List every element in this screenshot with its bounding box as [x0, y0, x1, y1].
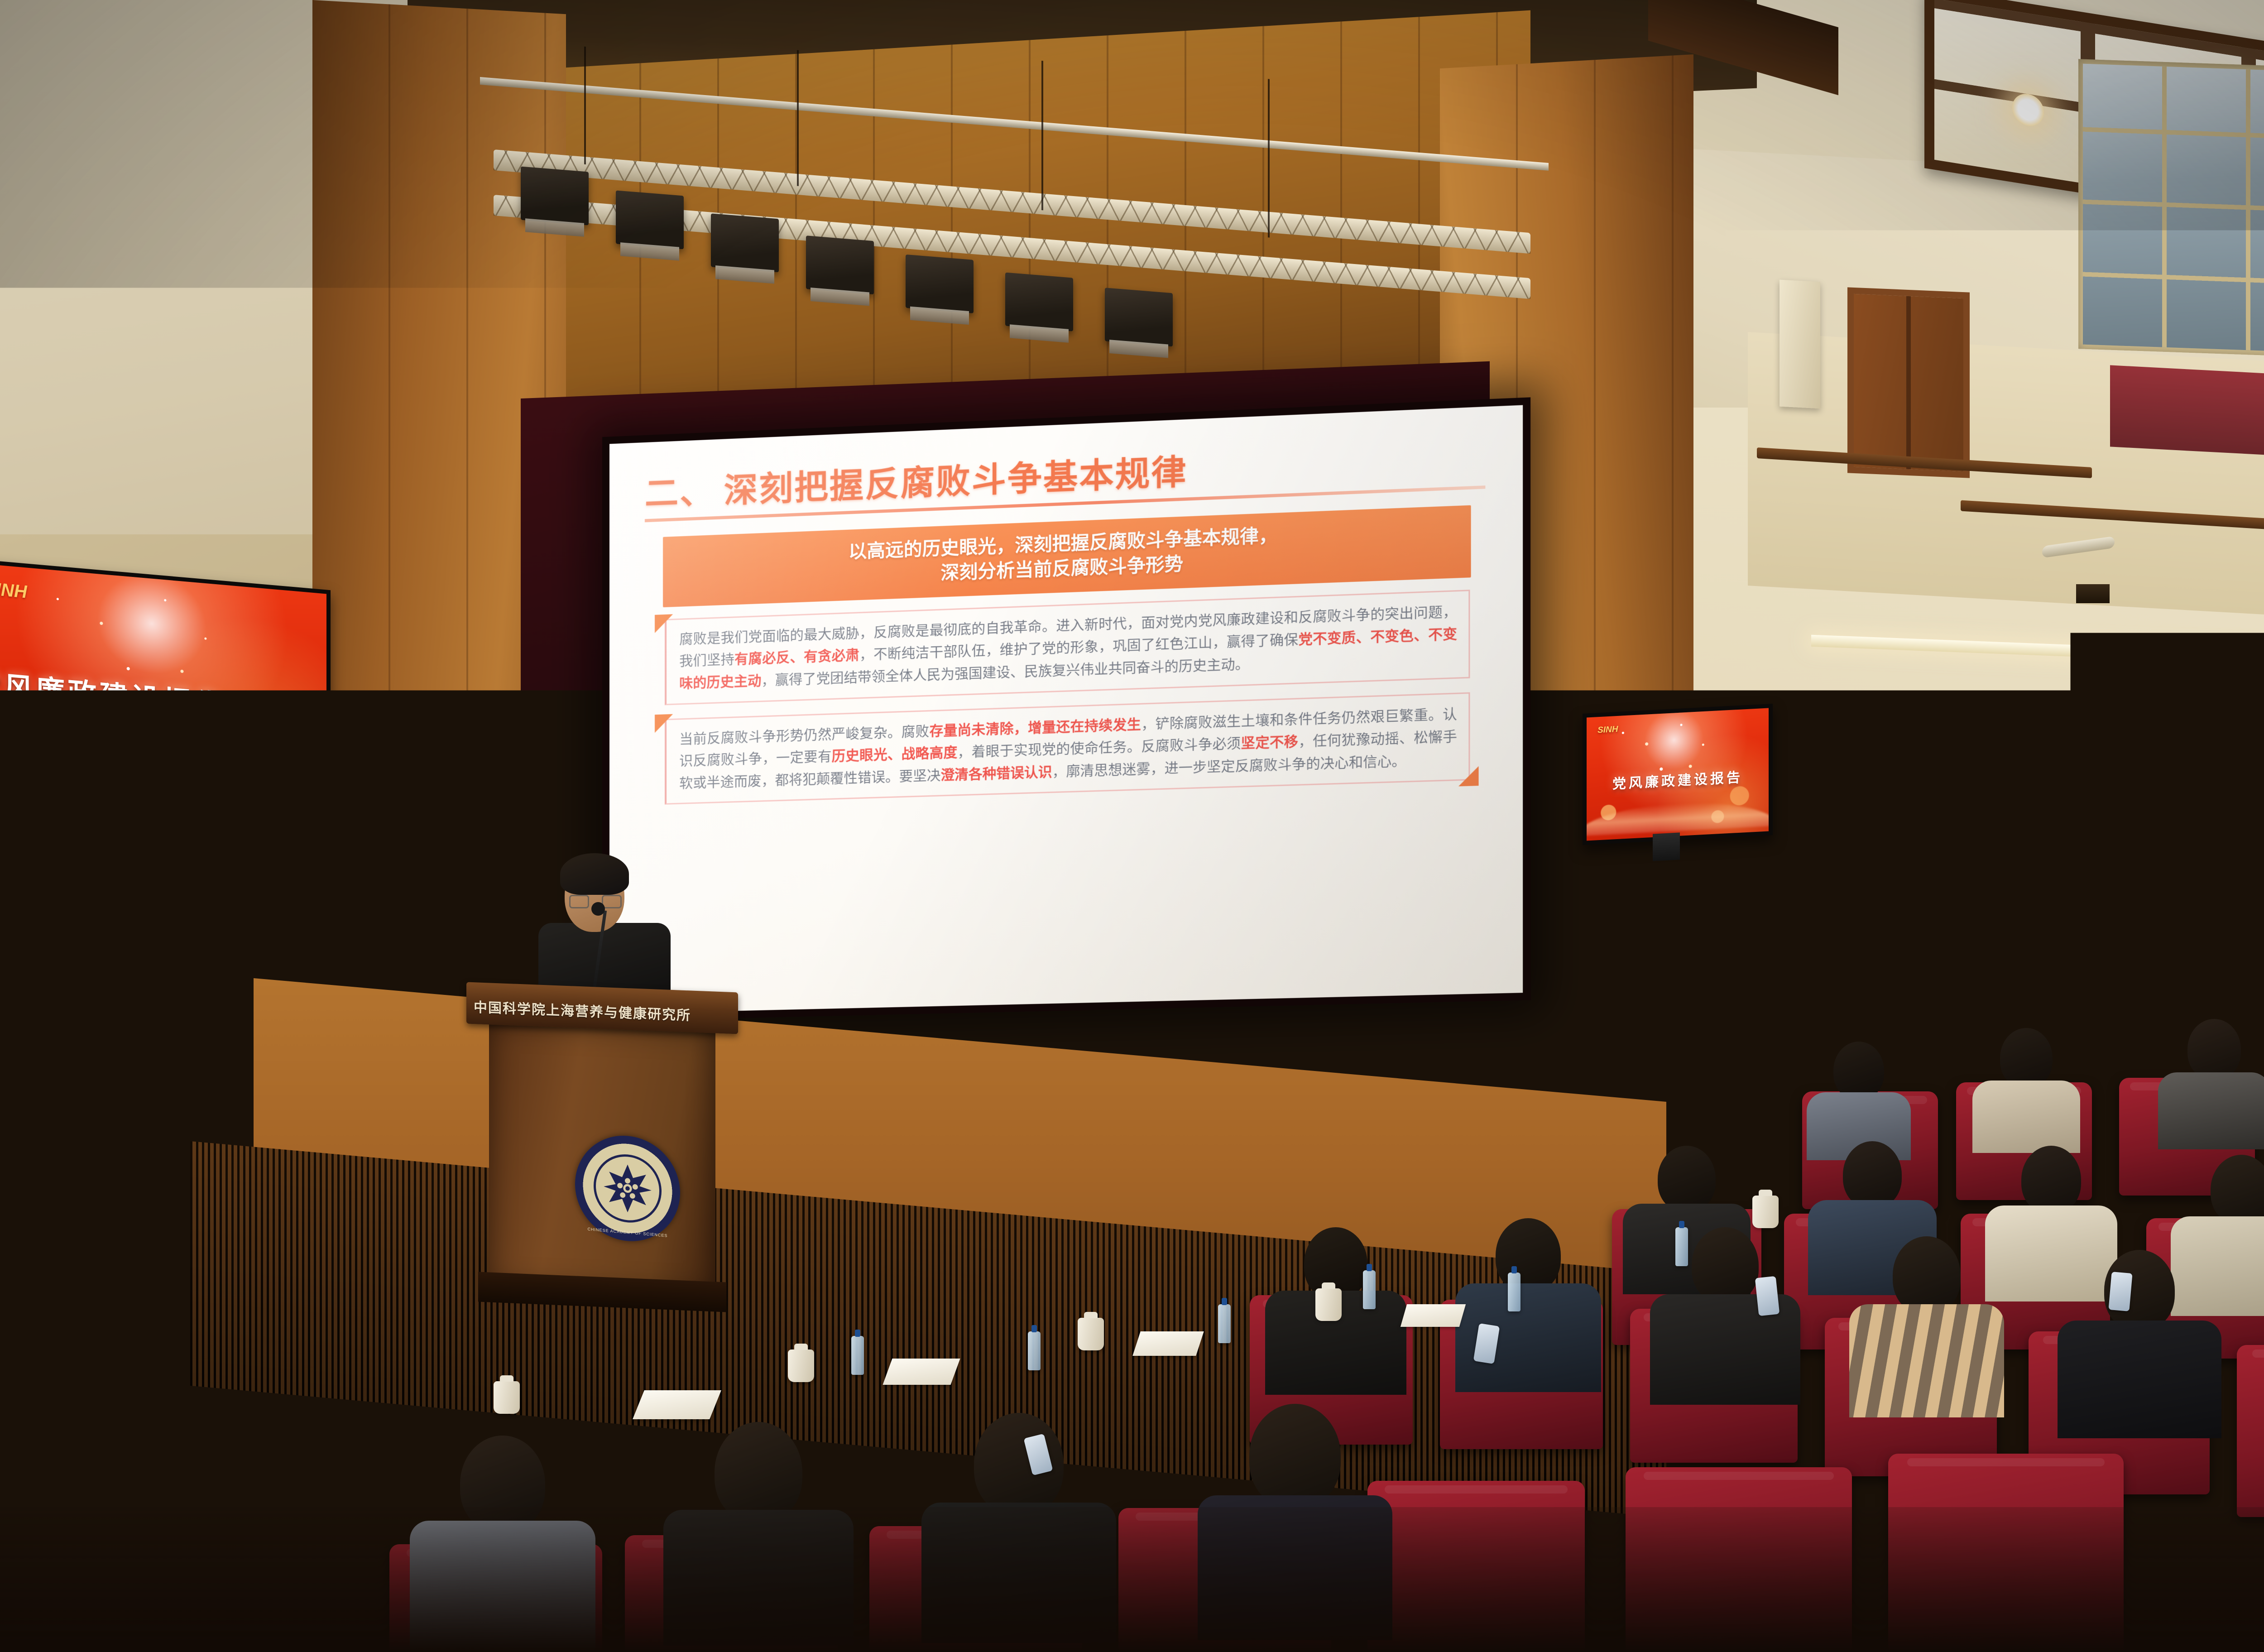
audience-member	[1970, 1028, 2083, 1146]
stage-light	[806, 235, 874, 294]
tv-mount-right	[1653, 832, 1680, 861]
seat[interactable]	[2237, 1345, 2264, 1517]
water-bottle[interactable]	[851, 1336, 864, 1375]
water-bottle[interactable]	[1363, 1270, 1376, 1309]
slide-section-number: 二、	[645, 464, 715, 516]
tea-mug[interactable]	[788, 1349, 814, 1382]
paragraph-2-box: 当前反腐败斗争形势仍然严峻复杂。腐败存量尚未清除，增量还在持续发生，铲除腐败滋生…	[665, 692, 1470, 805]
water-bottle[interactable]	[1675, 1227, 1688, 1266]
paragraph-corner-accent-br	[1458, 766, 1478, 787]
p2-highlight-4: 澄清各种错误认识	[940, 764, 1052, 783]
balcony-door[interactable]	[1847, 287, 1970, 478]
sinh-logo: SINH	[0, 578, 27, 602]
stage-light	[711, 213, 779, 272]
water-bottle[interactable]	[1508, 1273, 1521, 1311]
tea-mug[interactable]	[1078, 1318, 1104, 1350]
power-outlet[interactable]	[2076, 584, 2110, 603]
door-sign: 此门不通	[1896, 1001, 1938, 1035]
audience-member	[1847, 1236, 2006, 1404]
wall-speaker	[1780, 280, 1820, 409]
notebook[interactable]	[1132, 1331, 1204, 1356]
side-display-right[interactable]: SINH 党风廉政建设报告	[1583, 704, 1773, 845]
tea-mug[interactable]	[494, 1381, 520, 1414]
stage-light	[1005, 273, 1073, 331]
p2-highlight-3: 坚定不移	[1241, 734, 1299, 751]
stage-light	[1105, 288, 1173, 346]
p2-seg1: 当前反腐败斗争形势仍然严峻复杂。腐败	[679, 724, 929, 747]
notebook[interactable]	[633, 1390, 721, 1419]
p2-seg5: ，廓清思想迷雾，进一步坚定反腐败斗争的决心和信心。	[1052, 754, 1406, 780]
paragraph-1-box: 腐败是我们党面临的最大威胁，反腐败是最彻底的自我革命。进入新时代，面对党内党风廉…	[665, 590, 1470, 705]
tv-mount-left	[281, 755, 312, 789]
window-upper-right	[2078, 59, 2264, 358]
wall-sconce-left	[312, 749, 362, 789]
smartphone[interactable]	[2108, 1272, 2132, 1311]
aisle-floor	[0, 1507, 2264, 1652]
notebook[interactable]	[1401, 1304, 1466, 1327]
water-bottle[interactable]	[1218, 1304, 1231, 1343]
slide-banner: 以高远的历史眼光，深刻把握反腐败斗争基本规律， 深刻分析当前反腐败斗争形势	[663, 505, 1471, 607]
stage-light	[906, 255, 974, 313]
stage-light	[521, 166, 589, 225]
tea-mug[interactable]	[1315, 1288, 1342, 1321]
p2-highlight-1: 存量尚未清除，增量还在持续发生	[930, 717, 1142, 739]
side-display-left-screen: SINH 党风廉政建设报告	[0, 565, 326, 799]
slide-content: 二、 深刻把握反腐败斗争基本规律 以高远的历史眼光，深刻把握反腐败斗争基本规律，…	[602, 397, 1530, 1021]
water-bottle[interactable]	[1028, 1331, 1041, 1370]
slide-paragraph-1: 腐败是我们党面临的最大威胁，反腐败是最彻底的自我革命。进入新时代，面对党内党风廉…	[665, 590, 1470, 705]
audience-member	[2056, 1250, 2223, 1422]
audience-member	[2155, 1019, 2264, 1141]
paragraph-corner-accent	[655, 714, 673, 732]
auditorium-scene: 二、 深刻把握反腐败斗争基本规律 以高远的历史眼光，深刻把握反腐败斗争基本规律，…	[0, 0, 2264, 1652]
sinh-logo: SINH	[1597, 725, 1618, 735]
tea-mug[interactable]	[1752, 1196, 1779, 1228]
slide-paragraph-2: 当前反腐败斗争形势仍然严峻复杂。腐败存量尚未清除，增量还在持续发生，铲除腐败滋生…	[665, 692, 1470, 805]
paragraph-corner-accent	[655, 614, 673, 633]
p2-highlight-2: 历史眼光、战略高度	[832, 745, 958, 764]
p1-highlight-1: 有腐必反、有贪必肃	[734, 648, 859, 667]
projection-screen[interactable]: 二、 深刻把握反腐败斗争基本规律 以高远的历史眼光，深刻把握反腐败斗争基本规律，…	[602, 397, 1530, 1021]
notebook[interactable]	[883, 1359, 960, 1385]
audience-member	[1802, 1042, 1915, 1155]
side-display-right-screen: SINH 党风廉政建设报告	[1587, 708, 1769, 840]
speaker-hair	[560, 853, 629, 895]
microphone-icon	[591, 902, 605, 916]
stage-light	[616, 190, 684, 249]
p2-seg3: ，着眼于实现党的使命任务。反腐败斗争必须	[958, 736, 1241, 760]
smartphone[interactable]	[1755, 1276, 1780, 1316]
balcony-seats	[2110, 365, 2264, 459]
audience-area	[0, 1078, 2264, 1652]
